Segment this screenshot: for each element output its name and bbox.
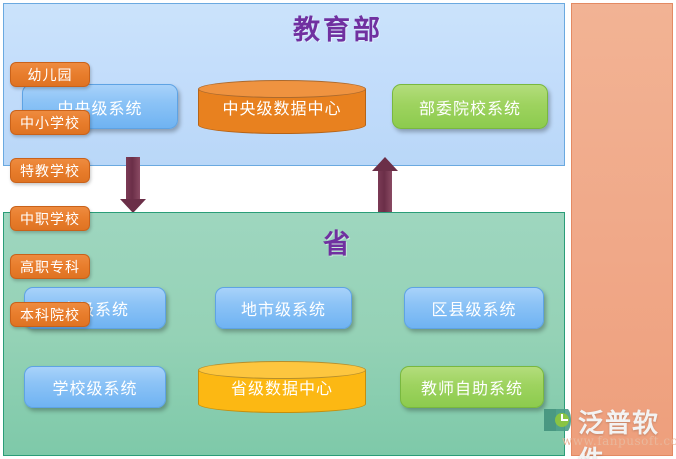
- arrow-head-up-icon: [372, 157, 398, 171]
- school-type-special-education[interactable]: 特教学校: [10, 158, 90, 183]
- node-school-system[interactable]: 学校级系统: [24, 366, 166, 408]
- node-label: 省级数据中心: [198, 361, 366, 413]
- school-type-label: 特教学校: [20, 161, 80, 181]
- node-label: 教师自助系统: [421, 375, 523, 399]
- school-type-university[interactable]: 本科院校: [10, 302, 90, 327]
- school-type-kindergarten[interactable]: 幼儿园: [10, 62, 90, 87]
- arrow-shaft: [126, 157, 140, 199]
- node-label: 部委院校系统: [419, 95, 521, 119]
- arrow-province-to-ministry: [372, 157, 398, 213]
- node-teacher-self-service-system[interactable]: 教师自助系统: [400, 366, 544, 408]
- school-type-label: 幼儿园: [28, 65, 73, 85]
- architecture-diagram: 教育部 中央级系统 中央级数据中心 部委院校系统 省 省级系统 地市级系统 区县…: [0, 0, 676, 459]
- node-label: 中央级数据中心: [198, 80, 366, 134]
- node-central-data-center[interactable]: 中央级数据中心: [198, 80, 366, 134]
- node-label: 学校级系统: [52, 375, 137, 399]
- node-ministry-college-system[interactable]: 部委院校系统: [392, 84, 548, 129]
- arrow-ministry-to-province: [120, 157, 146, 213]
- school-type-vocational-college[interactable]: 高职专科: [10, 254, 90, 279]
- arrow-shaft: [378, 171, 392, 213]
- school-type-label: 本科院校: [20, 305, 80, 325]
- school-type-label: 中小学校: [20, 113, 80, 133]
- school-type-label: 中职学校: [20, 209, 80, 229]
- node-city-system[interactable]: 地市级系统: [215, 287, 352, 329]
- school-type-primary-secondary[interactable]: 中小学校: [10, 110, 90, 135]
- school-type-vocational-secondary[interactable]: 中职学校: [10, 206, 90, 231]
- node-district-system[interactable]: 区县级系统: [404, 287, 544, 329]
- node-label: 区县级系统: [431, 296, 516, 320]
- arrow-head-down-icon: [120, 199, 146, 213]
- school-types-panel: [571, 3, 673, 456]
- school-type-label: 高职专科: [20, 257, 80, 277]
- node-province-data-center[interactable]: 省级数据中心: [198, 361, 366, 413]
- node-label: 地市级系统: [241, 296, 326, 320]
